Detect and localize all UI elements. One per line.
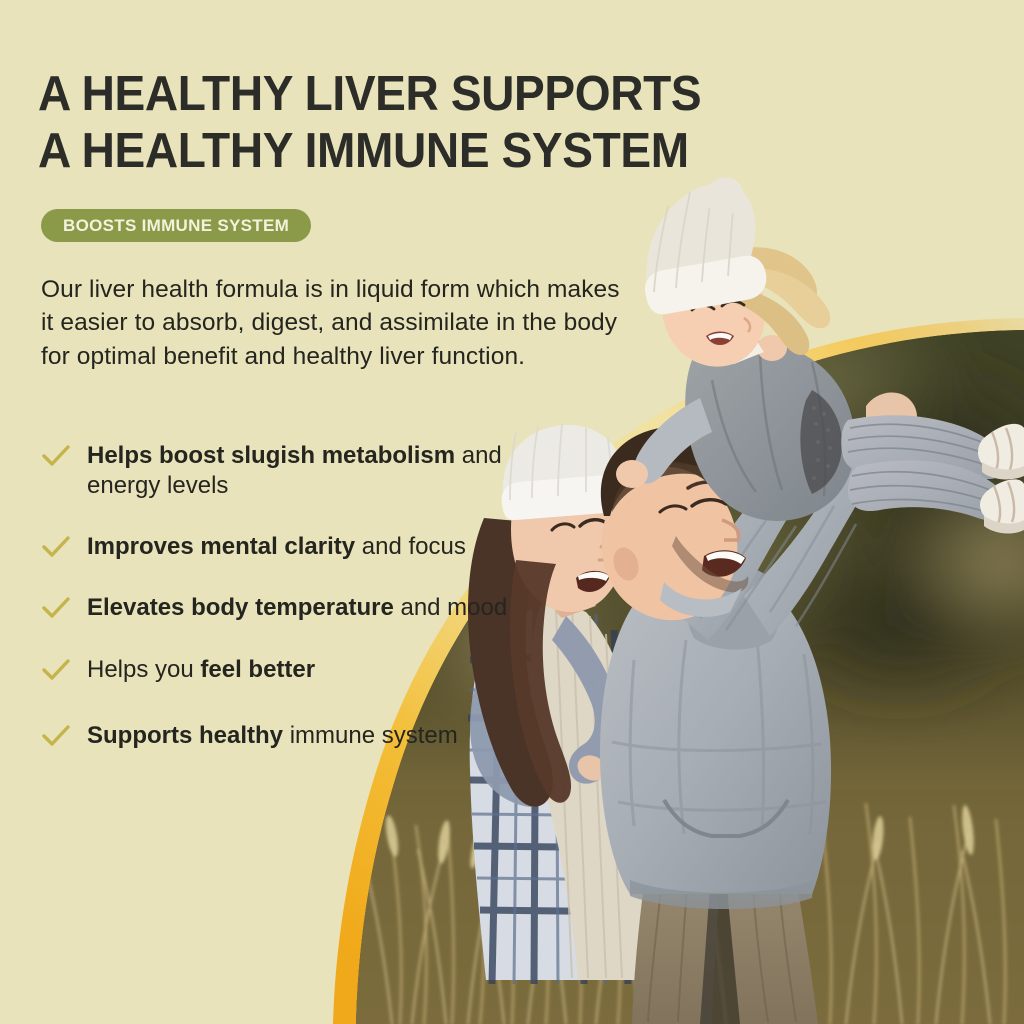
list-item: Elevates body temperature and mood (41, 593, 511, 623)
headline-line-2: A HEALTHY IMMUNE SYSTEM (38, 123, 724, 180)
benefit-plain-text: and focus (355, 533, 466, 560)
page-title: A HEALTHY LIVER SUPPORTS A HEALTHY IMMUN… (38, 66, 724, 181)
check-icon (41, 595, 71, 621)
poster-canvas: A HEALTHY LIVER SUPPORTS A HEALTHY IMMUN… (0, 0, 1024, 1024)
list-item: Helps you feel better (41, 655, 511, 685)
benefit-bold-text: Improves mental clarity (87, 533, 355, 560)
headline-line-1: A HEALTHY LIVER SUPPORTS (38, 66, 724, 123)
benefit-bold-text: Elevates body temperature (87, 594, 394, 621)
list-item: Supports healthy immune system (41, 721, 511, 751)
status-badge: BOOSTS IMMUNE SYSTEM (41, 209, 311, 242)
benefit-bold-text: feel better (200, 656, 315, 683)
check-icon (41, 657, 71, 683)
check-icon (41, 723, 71, 749)
benefits-list: Helps boost slugish metabolism and energ… (41, 441, 511, 751)
list-item: Improves mental clarity and focus (41, 532, 511, 562)
benefit-plain-text: Helps you (87, 656, 200, 683)
benefit-plain-text: and mood (394, 594, 507, 621)
check-icon (41, 443, 71, 469)
intro-paragraph: Our liver health formula is in liquid fo… (41, 273, 631, 373)
benefit-bold-text: Supports healthy (87, 722, 283, 749)
check-icon (41, 534, 71, 560)
benefit-bold-text: Helps boost slugish metabolism (87, 442, 455, 469)
list-item: Helps boost slugish metabolism and energ… (41, 441, 511, 501)
benefit-plain-text: immune system (283, 722, 458, 749)
